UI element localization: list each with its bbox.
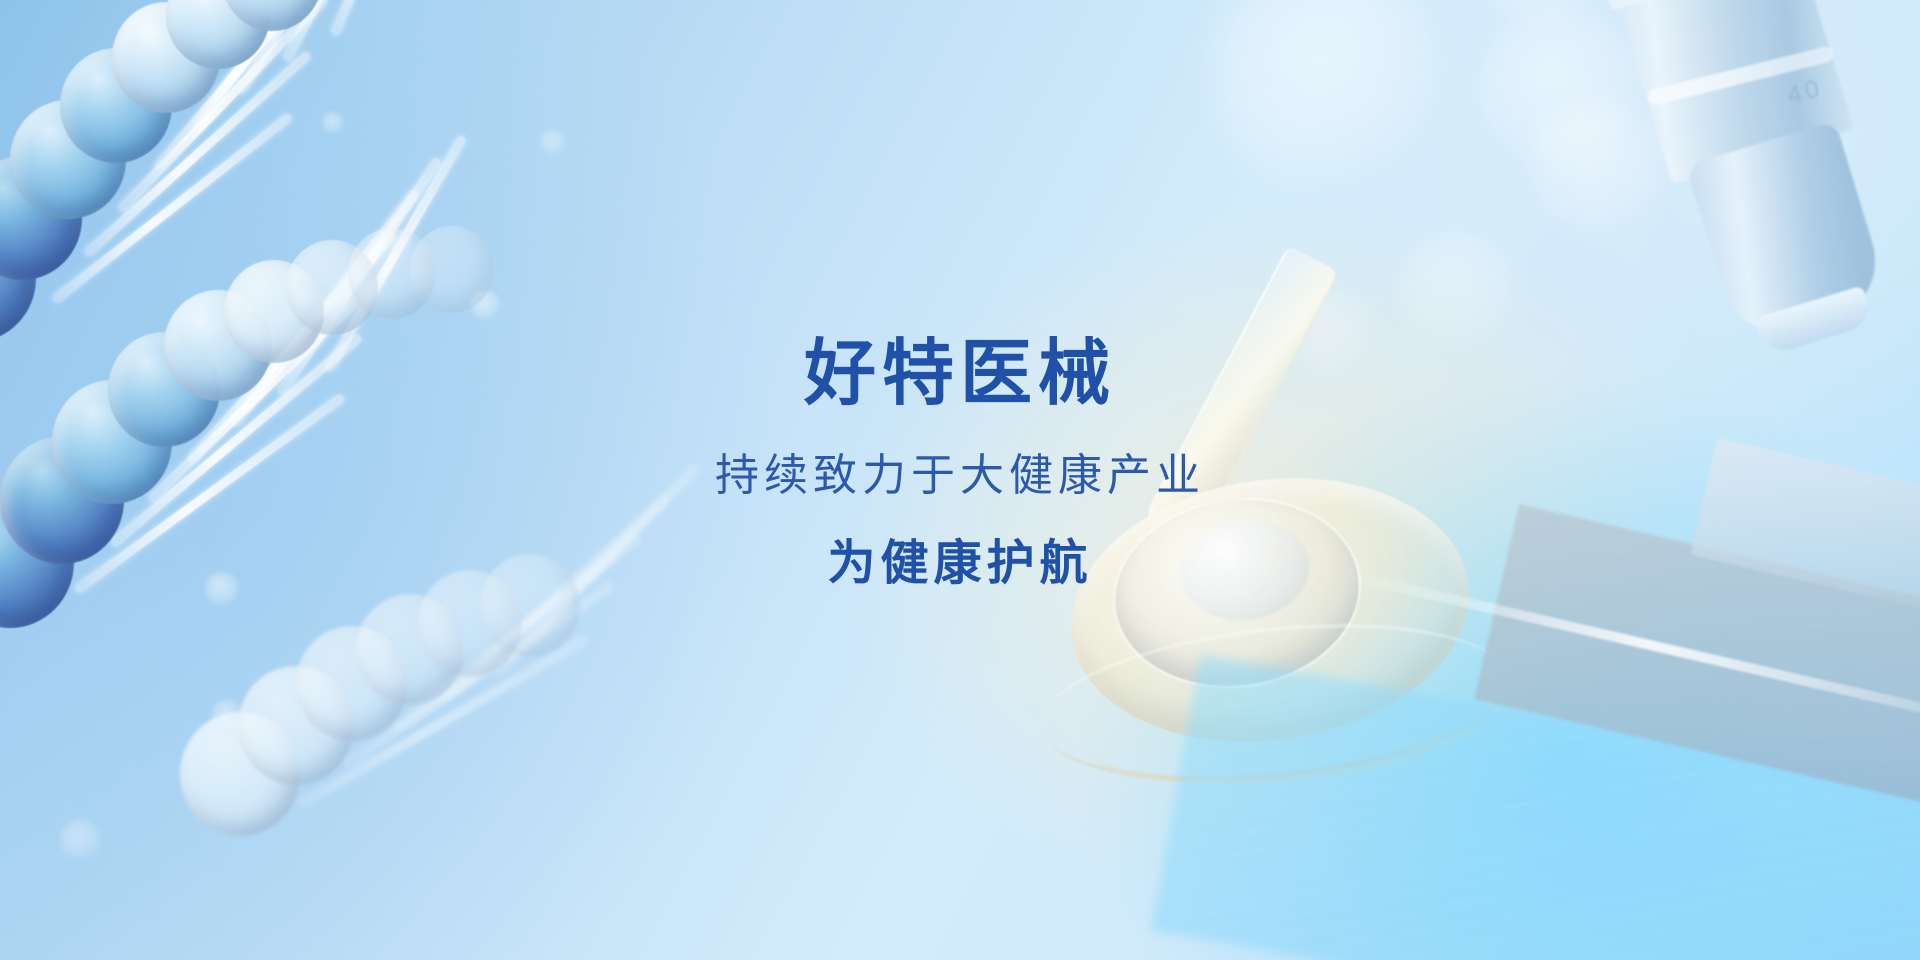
dna-nucleotide-node [410, 226, 494, 313]
dna-backbone-rod [330, 0, 442, 36]
bokeh-light-icon [60, 820, 100, 860]
bokeh-light-icon [322, 112, 344, 134]
bokeh-light-icon [540, 130, 566, 156]
bokeh-light-icon [205, 572, 239, 606]
bokeh-light-icon [1400, 230, 1515, 345]
hero-banner: 40 好特医械 持续致力于大健康产业 为健康护航 [0, 0, 1920, 960]
dna-nucleotide-node [480, 554, 580, 657]
bokeh-light-icon [1210, 0, 1440, 190]
